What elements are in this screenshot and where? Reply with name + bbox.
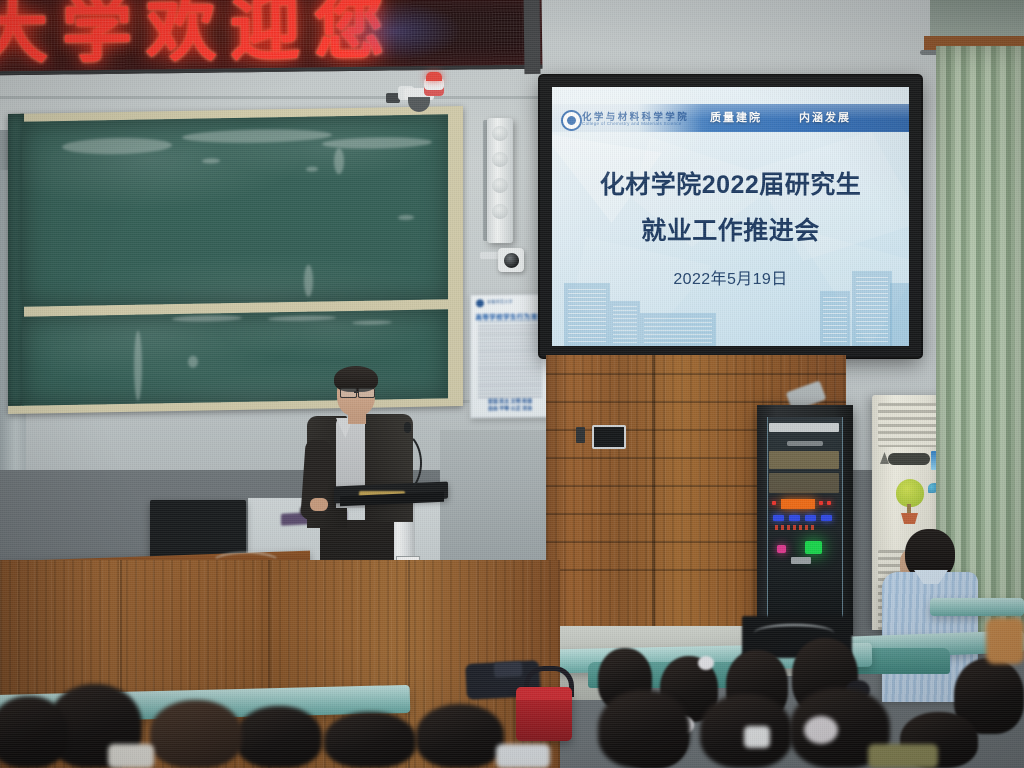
face-mask-icon <box>744 726 770 748</box>
red-indicator-sensor <box>424 78 444 96</box>
foreground-head <box>0 696 68 768</box>
wall-poster: 安徽师范大学 高等学校学生行为准则 爱国 民主 文明 和谐 自由 平等 公正 法… <box>470 294 550 419</box>
rack-button[interactable] <box>791 557 811 564</box>
projection-screen: 化学与材料科学学院 College of Chemistry and Mater… <box>552 87 909 346</box>
hair-tie-icon <box>804 716 838 744</box>
rack-label-strip <box>775 525 815 530</box>
poster-footer: 爱国 民主 文明 和谐 自由 平等 公正 法治 <box>477 399 543 413</box>
led-frame-right <box>524 0 541 74</box>
foreground-head <box>236 706 322 768</box>
foreground-head <box>416 704 504 768</box>
ac-brand-badge <box>888 453 930 465</box>
led-welcome-banner: 大学欢迎您 <box>0 0 542 75</box>
poster-university-logo <box>476 299 484 307</box>
wall-speaker-icon <box>487 118 513 243</box>
poster-body-text <box>478 325 542 400</box>
blackboard-panel-upper <box>22 114 448 306</box>
foreground-shoulder <box>868 744 938 768</box>
microphone-head-icon <box>404 422 411 433</box>
tree-decal-icon <box>894 479 926 523</box>
poster-university-name: 安徽师范大学 <box>487 299 513 305</box>
slide-slogan-right: 内涵发展 <box>799 109 851 125</box>
blackboard <box>8 106 463 414</box>
microphone-gooseneck <box>374 430 422 496</box>
wall-seam <box>0 96 540 99</box>
red-handbag[interactable] <box>516 687 572 741</box>
glasses-lens-left-icon <box>340 388 357 398</box>
audience-person-tan <box>986 618 1024 664</box>
led-sheen <box>324 0 465 63</box>
foreground-head <box>598 690 690 768</box>
rack-power-led <box>805 541 822 554</box>
rack-status-led <box>777 545 786 553</box>
light-switch[interactable] <box>576 427 585 443</box>
rack-display-readout <box>781 499 815 509</box>
desk-monitor[interactable] <box>150 500 246 558</box>
screen-glare <box>552 87 712 187</box>
blackboard-panel-lower <box>22 309 448 405</box>
wall-control-panel[interactable] <box>592 425 626 449</box>
slide-date: 2022年5月19日 <box>552 265 909 289</box>
lecture-hall-photo: 大学欢迎您 <box>0 0 1024 768</box>
slide-title-line2: 就业工作推进会 <box>552 211 909 247</box>
av-equipment-rack <box>757 405 853 635</box>
foreground-head <box>324 712 416 768</box>
phone-on-desk[interactable] <box>494 661 523 677</box>
slide-slogan-left: 质量建院 <box>710 109 762 125</box>
ac-upper-vent <box>878 403 942 447</box>
foreground-head <box>150 700 242 768</box>
hair-tie-icon <box>698 656 714 670</box>
foreground-shoulder <box>108 744 154 768</box>
poster-divider <box>478 321 542 323</box>
speaker-hand <box>310 498 328 511</box>
desk-row-right-upper <box>930 598 1024 616</box>
glasses-lens-right-icon <box>358 388 375 398</box>
foreground-shoulder <box>496 744 550 768</box>
poster-footer-line2: 自由 平等 公正 法治 <box>477 405 543 412</box>
ptz-camera-lens <box>504 253 519 268</box>
glasses-bridge <box>354 391 359 393</box>
window-glass <box>930 0 1024 40</box>
